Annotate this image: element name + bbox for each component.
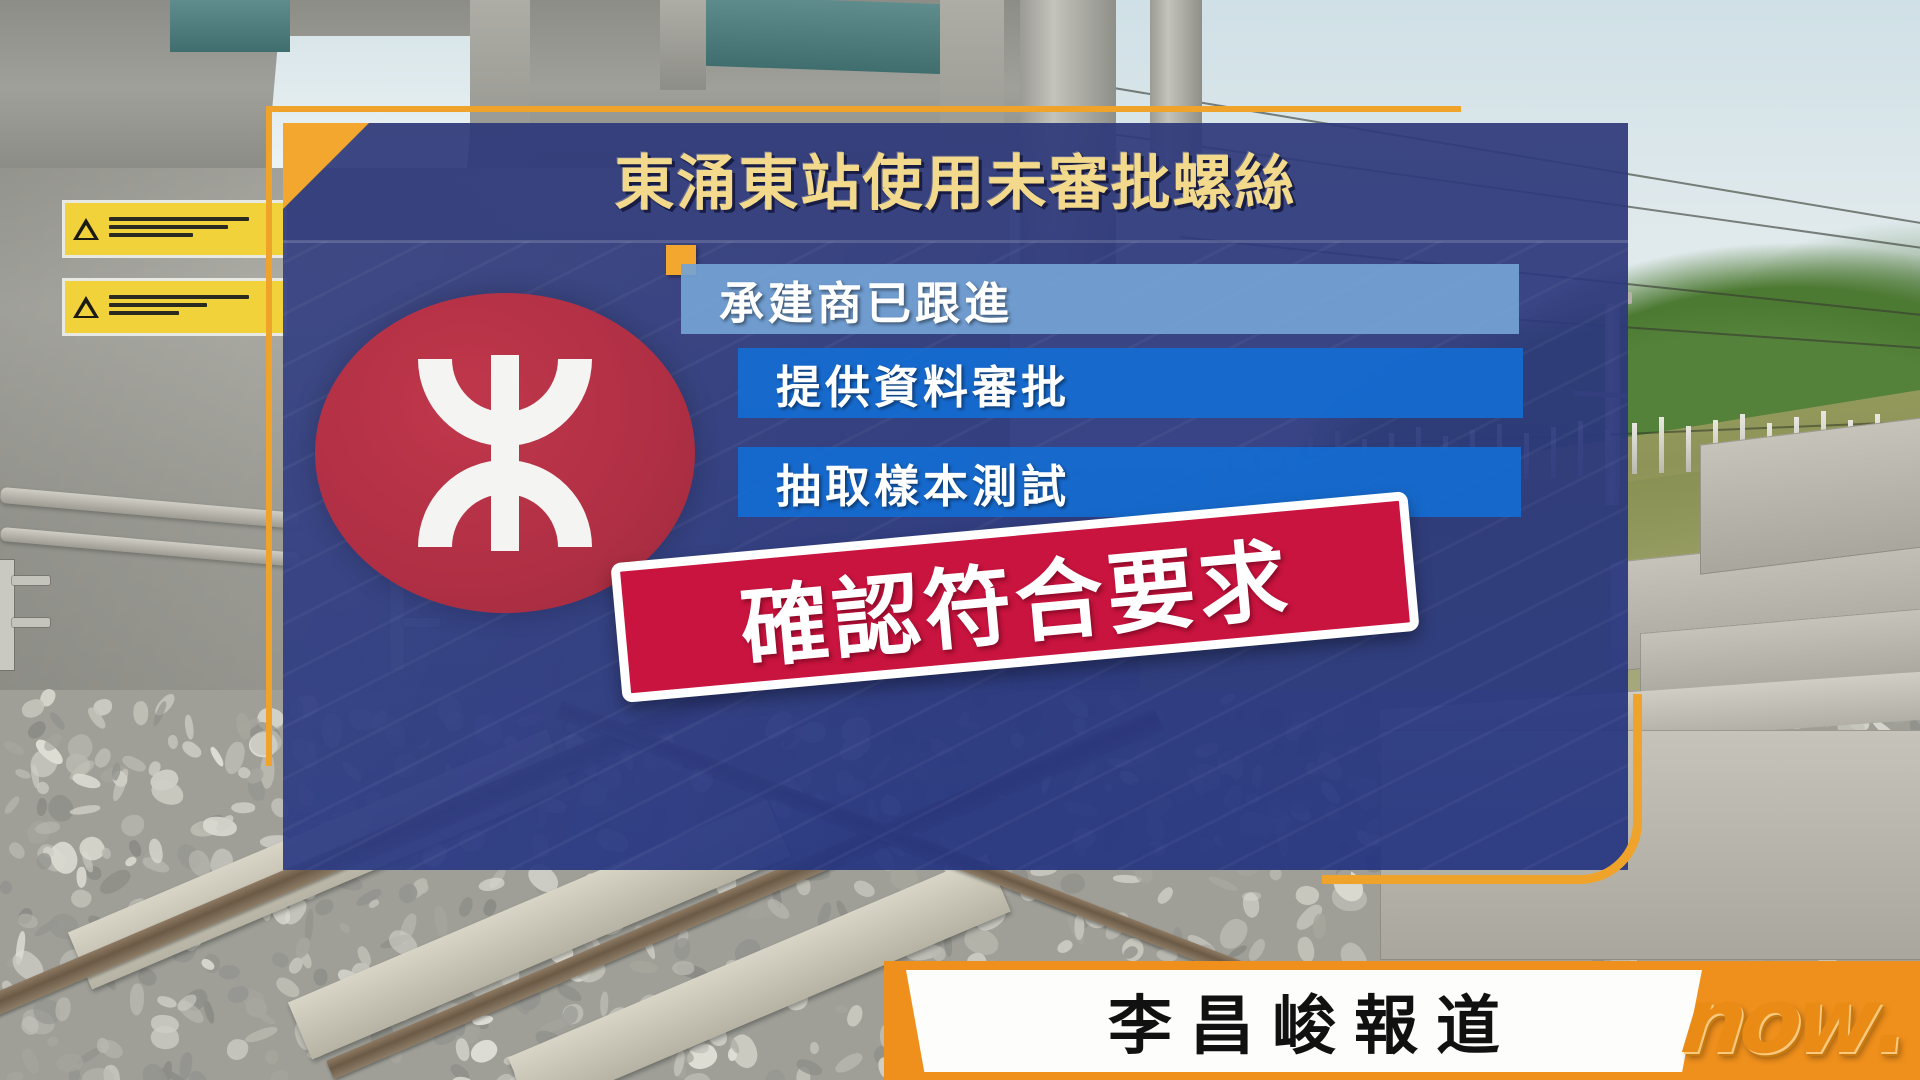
wall-bracket bbox=[0, 560, 14, 670]
panel-left-border bbox=[266, 106, 272, 766]
concrete-column bbox=[660, 0, 706, 90]
panel-top-border bbox=[266, 106, 1461, 112]
warning-sign bbox=[62, 278, 287, 336]
now-logo-text: now bbox=[1677, 969, 1879, 1074]
steel-beam-teal bbox=[170, 0, 290, 52]
banner-white-plate: 李昌峻報道 bbox=[906, 970, 1702, 1072]
reporter-name: 李昌峻報道 bbox=[1090, 975, 1518, 1067]
warning-sign bbox=[62, 200, 287, 258]
corner-rounded-accent bbox=[1322, 694, 1642, 884]
steel-beam-teal bbox=[700, 0, 950, 74]
warning-triangle-icon bbox=[73, 296, 99, 318]
page-title: 東涌東站使用未審批螺絲 bbox=[283, 135, 1628, 222]
list-item: 承建商已跟進 bbox=[681, 264, 1519, 334]
panel-header-separator bbox=[283, 240, 1628, 243]
list-item-label: 承建商已跟進 bbox=[719, 267, 1013, 332]
sign-text-lines bbox=[109, 295, 249, 319]
warning-triangle-icon bbox=[73, 218, 99, 240]
now-logo: now. bbox=[1676, 965, 1908, 1077]
list-item-label: 提供資料審批 bbox=[776, 351, 1070, 416]
list-item-label: 抽取樣本測試 bbox=[776, 450, 1070, 515]
list-item: 提供資料審批 bbox=[738, 348, 1523, 418]
sign-text-lines bbox=[109, 217, 249, 241]
lower-third-banner: 李昌峻報道 now. bbox=[884, 961, 1920, 1080]
news-graphic-panel: 東涌東站使用未審批螺絲 承建商已跟進 提供資料審批 抽取樣本測試 確認 bbox=[283, 123, 1628, 870]
